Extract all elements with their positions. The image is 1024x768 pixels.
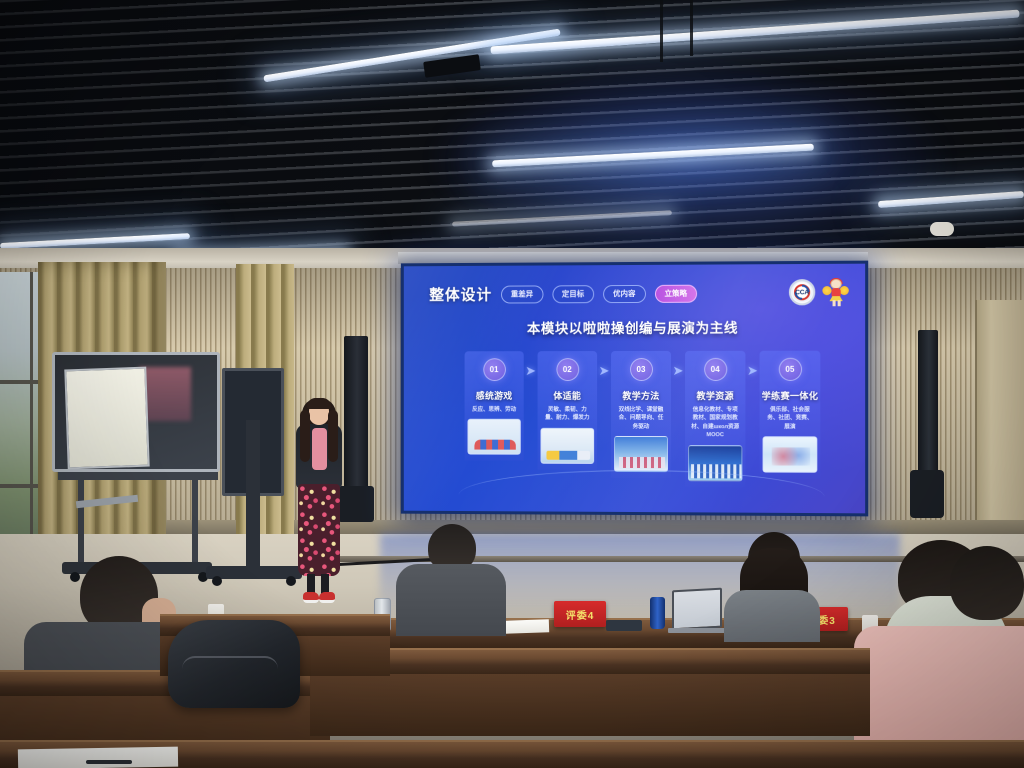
judge-gray-suit-body — [396, 564, 506, 636]
card-number-01: 01 — [483, 358, 506, 381]
card-title-03: 教学方法 — [611, 389, 671, 402]
whiteboard-flip-panel[interactable] — [64, 367, 149, 470]
judge-laptop-screen[interactable] — [672, 588, 722, 631]
presenter-inner-top — [312, 428, 327, 470]
slide-card-05: 05 学练赛一体化 俱乐部、社会服务、社团、竞赛、展演 — [760, 351, 821, 479]
card-number-02: 02 — [556, 358, 579, 381]
card-number-04: 04 — [704, 358, 727, 381]
ceiling-light-tube-2 — [490, 10, 1019, 55]
display-cart-caster-left — [212, 576, 222, 586]
presenter-person — [288, 392, 350, 614]
paper-sheet-bottom-left — [18, 747, 178, 768]
student-desk-row-1-right — [310, 648, 870, 674]
slide-pill-2: 优内容 — [603, 284, 645, 302]
led-display-screen[interactable]: 整体设计 重差异 定目标 优内容 立策略 CCA — [401, 261, 868, 517]
presenter-floral-skirt — [298, 484, 340, 576]
judge-long-hair — [718, 532, 826, 638]
card-title-01: 感统游戏 — [465, 389, 524, 402]
mascot-leg-right — [838, 300, 841, 306]
presenter-shoe-left — [303, 592, 319, 603]
card-desc-05: 俱乐部、社会服务、社团、竞赛、展演 — [760, 406, 821, 431]
card-thumbnail-01 — [468, 419, 521, 455]
slide-card-02: 02 体适能 灵敏、柔韧、力量、耐力、爆发力 — [538, 351, 598, 470]
ceiling-hanger-rod-1 — [660, 0, 663, 62]
presenter-shoe-right — [319, 592, 335, 603]
column-speaker-right — [918, 330, 938, 480]
card-desc-03: 双线比学、课堂融合、问题导向、任务驱动 — [611, 406, 671, 431]
card-number-03: 03 — [630, 358, 653, 381]
mascot-leg-left — [833, 300, 836, 306]
whiteboard-leg-right — [192, 478, 198, 566]
slide-logos: CCA — [789, 278, 849, 307]
card-title-05: 学练赛一体化 — [760, 389, 821, 402]
slide-subtitle: 本模块以啦啦操创编与展演为主线 — [404, 316, 865, 337]
slide-card-04: 04 教学资源 信息化教材、专项教材、国家规划教材、自建школ资源 MOOC — [685, 351, 745, 487]
chevron-right-icon-1: ➤ — [524, 363, 538, 379]
presenter-bangs — [307, 398, 331, 409]
ceiling-hanger-rod-2 — [690, 0, 693, 56]
display-mount-pole — [246, 420, 260, 570]
slide-card-row: 01 感统游戏 反应、思辨、劳动 ➤ 02 体适能 灵敏、柔韧、力量、耐力、爆发… — [465, 351, 821, 488]
card-number-05: 05 — [778, 358, 801, 381]
pen-bottom-left — [86, 760, 132, 764]
slide-header: 整体设计 重差异 定目标 优内容 立策略 — [429, 283, 697, 305]
judge-long-hair-body — [724, 590, 820, 642]
wall-door[interactable] — [975, 300, 1024, 536]
presenter-hair-right — [328, 410, 338, 462]
backpack-on-desk — [168, 620, 300, 708]
chevron-right-icon-2: ➤ — [597, 363, 611, 379]
ceiling-smoke-detector — [930, 222, 954, 236]
cheerleader-mascot-icon — [822, 278, 848, 306]
slatted-ceiling — [0, 0, 1024, 268]
whiteboard-leg-left — [78, 478, 84, 566]
card-thumbnail-05 — [763, 436, 818, 472]
judge-gray-suit — [396, 524, 506, 634]
card-title-02: 体适能 — [538, 389, 598, 402]
column-speaker-right-base — [910, 470, 944, 518]
mascot-pompom-left — [822, 286, 831, 295]
presentation-room-scene: 整体设计 重差异 定目标 优内容 立策略 CCA — [0, 0, 1024, 768]
card-desc-01: 反应、思辨、劳动 — [465, 406, 524, 414]
audience-far-right — [950, 546, 1024, 626]
ceiling-shadow-left — [0, 0, 430, 268]
mascot-pompom-right — [840, 286, 849, 295]
chevron-right-icon-4: ➤ — [745, 363, 759, 379]
student-desk-row-1-right-front — [310, 674, 870, 736]
slide-pill-3-active: 立策略 — [655, 284, 698, 302]
nameplate-judge-4: 评委4 — [554, 601, 606, 627]
judge-paper-sheet — [505, 619, 549, 634]
slide-pill-1: 定目标 — [552, 285, 594, 303]
slide-card-01: 01 感统游戏 反应、思辨、劳动 — [465, 351, 524, 461]
slide-title: 整体设计 — [429, 284, 492, 305]
slide-pill-0: 重差异 — [501, 285, 543, 303]
card-thumbnail-03 — [614, 436, 668, 472]
chevron-right-icon-3: ➤ — [671, 363, 685, 379]
presenter-leg-right — [321, 574, 329, 594]
tablet-case — [606, 620, 642, 631]
presentation-slide: 整体设计 重差异 定目标 优内容 立策略 CCA — [404, 264, 865, 514]
presenter-hair-left — [300, 410, 310, 462]
slide-card-03: 03 教学方法 双线比学、课堂融合、问题导向、任务驱动 — [611, 351, 671, 478]
audience-far-right-head — [950, 546, 1024, 620]
card-title-04: 教学资源 — [685, 389, 745, 402]
cca-logo-icon: CCA — [789, 279, 815, 305]
thermos-bottle-blue — [650, 597, 665, 629]
cca-logo-text: CCA — [795, 289, 809, 296]
presenter-leg-left — [307, 574, 315, 594]
card-desc-02: 灵敏、柔韧、力量、耐力、爆发力 — [538, 406, 598, 423]
card-thumbnail-02 — [541, 428, 595, 464]
card-desc-04: 信息化教材、专项教材、国家规划教材、自建школ资源 MOOC — [685, 406, 745, 440]
